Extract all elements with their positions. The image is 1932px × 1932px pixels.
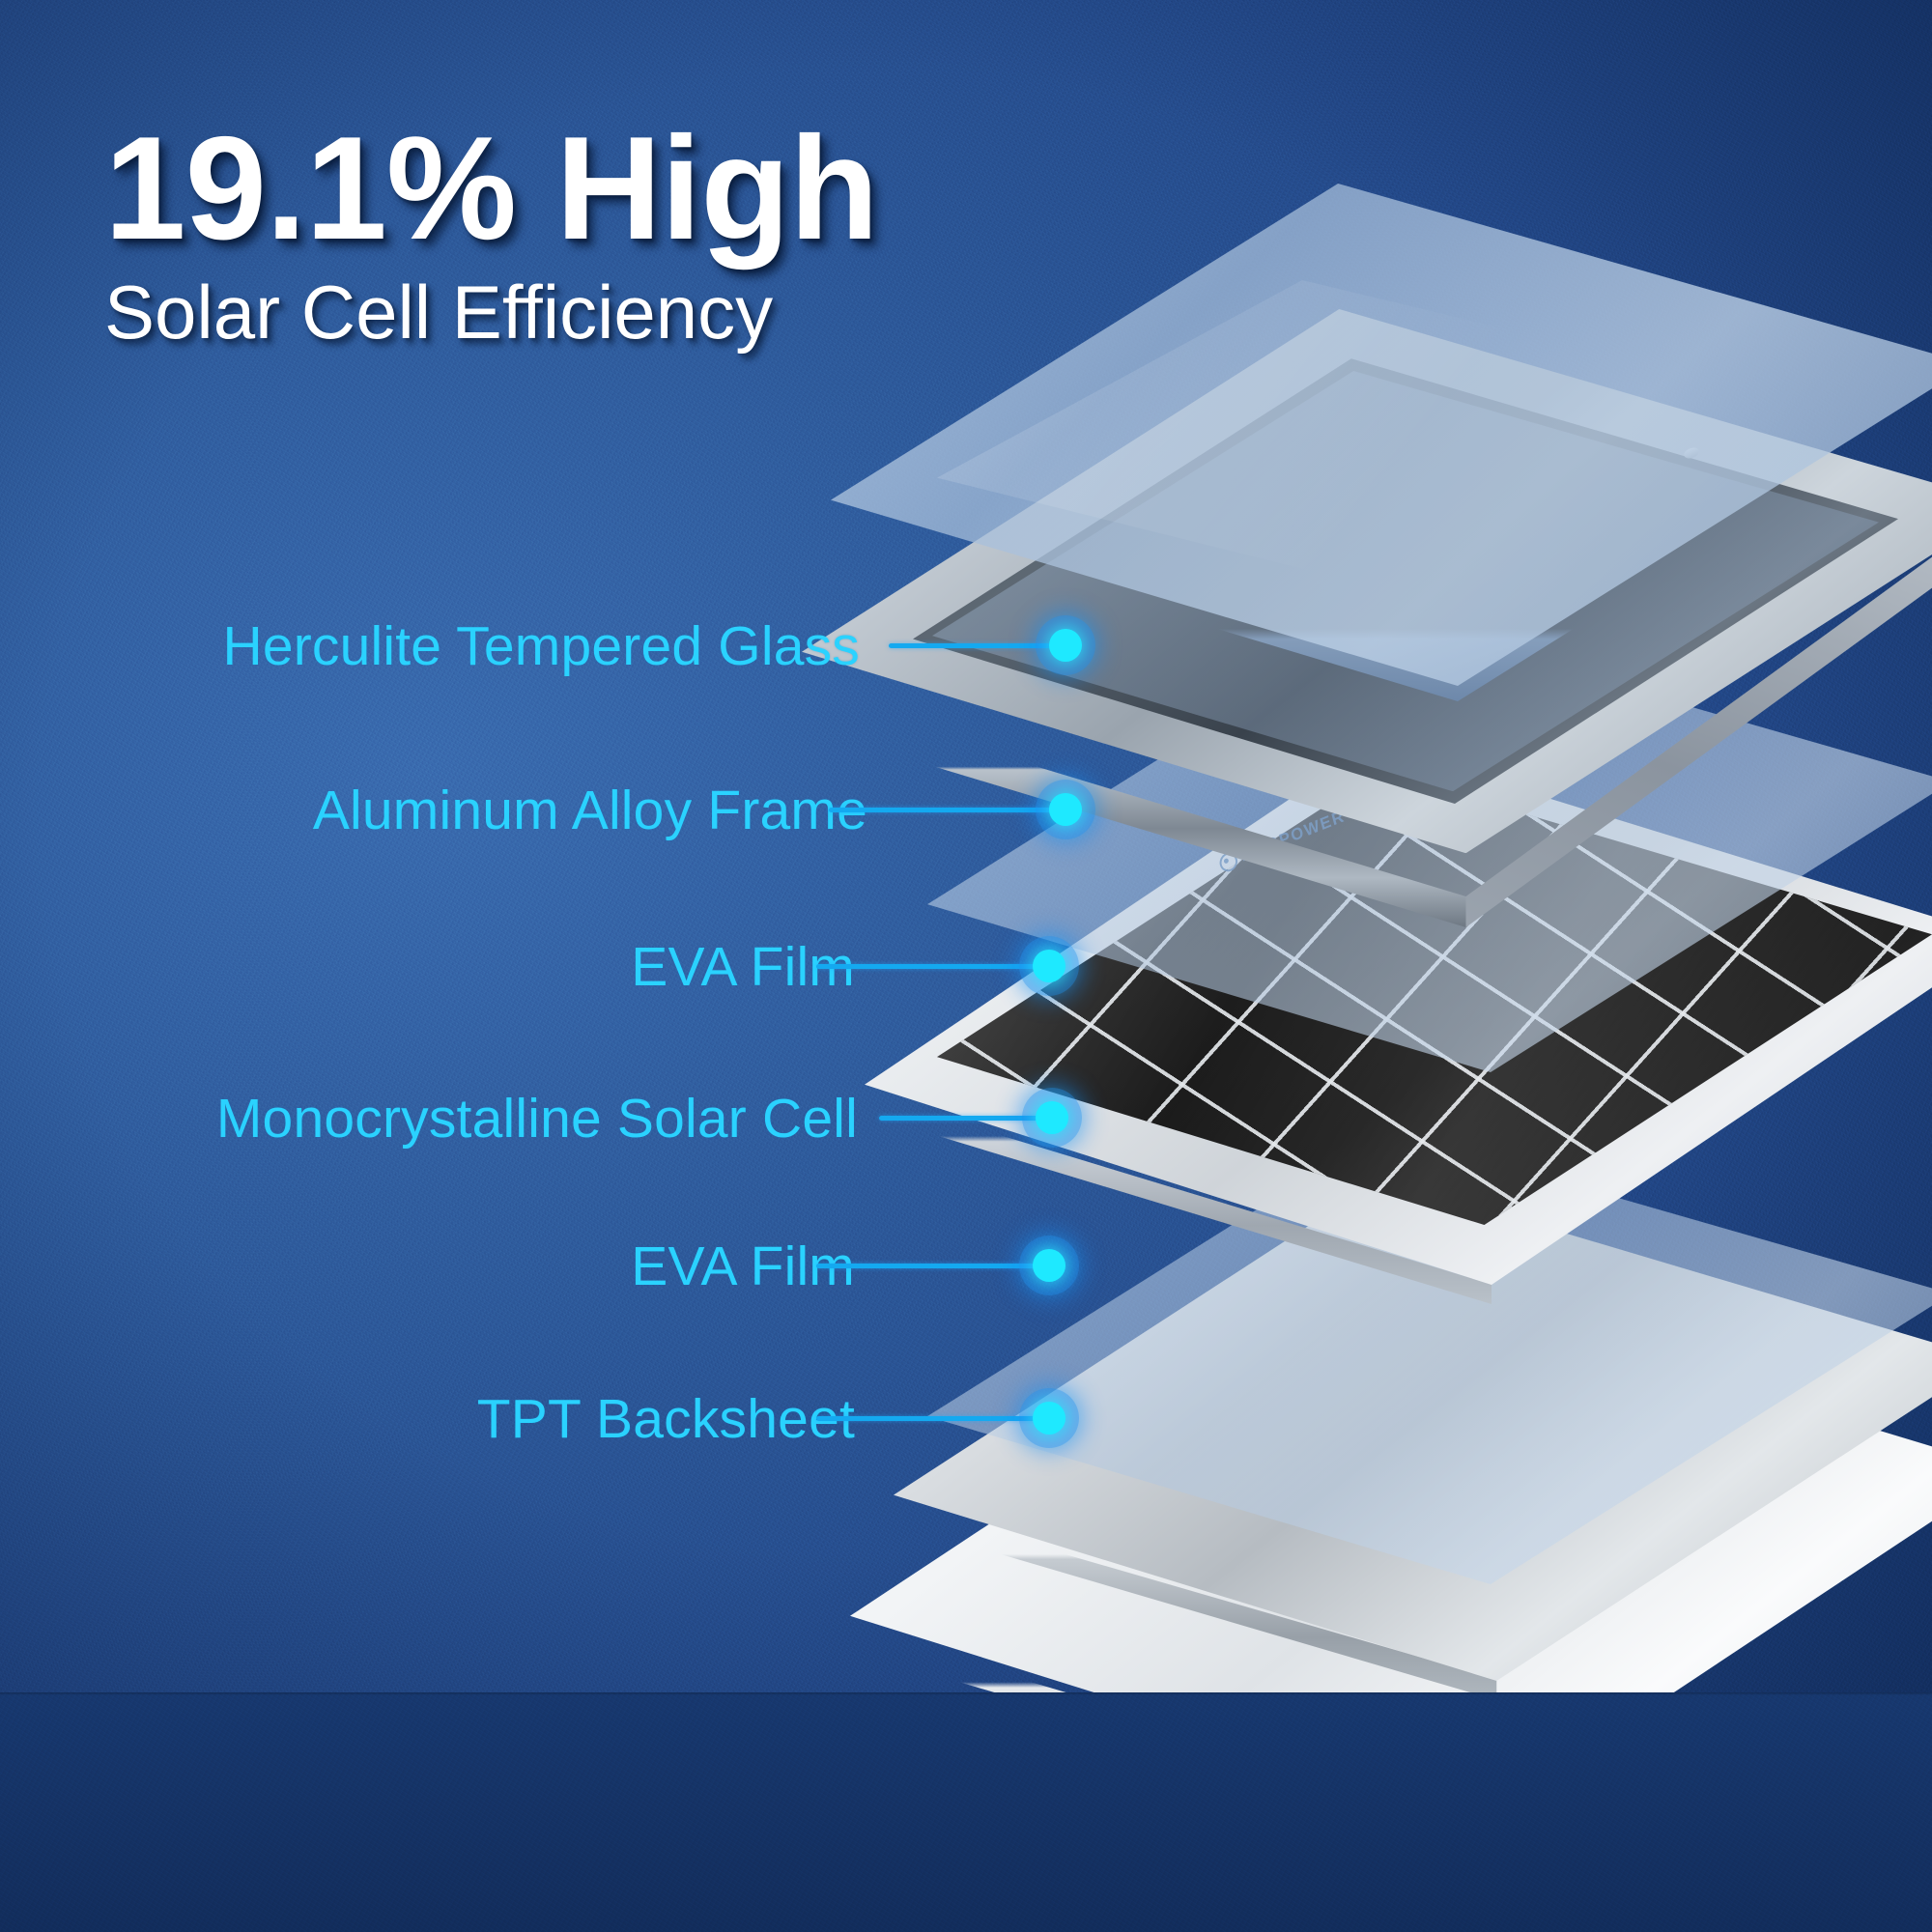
callout-leader-line [879,1116,1039,1121]
bottom-band-texture [0,1692,1932,1932]
bottom-band-divider [0,1692,1932,1695]
callout-label: Herculite Tempered Glass [222,614,860,678]
callout-label: Monocrystalline Solar Cell [216,1087,858,1151]
callout-leader-line [889,643,1053,648]
callout-dot[interactable] [1019,936,1079,996]
callout-leader-line [816,964,1037,969]
callout-leader-line [829,808,1053,812]
exploded-solar-panel-illustration: ACOPOWER [792,164,1932,1671]
callout-leader-line [816,1264,1037,1268]
headline-block: 19.1% High Solar Cell Efficiency [104,114,1119,353]
callout-dot[interactable] [1022,1088,1082,1148]
callout-label: TPT Backsheet [477,1387,855,1451]
headline-primary: 19.1% High [104,114,1119,264]
infographic-canvas: ACOPOWER 19.1% High Solar Cell Efficienc… [0,0,1932,1932]
callout-dot[interactable] [1019,1236,1079,1295]
callout-dot[interactable] [1036,780,1095,839]
callout-leader-line [816,1416,1037,1421]
headline-secondary: Solar Cell Efficiency [104,273,1119,353]
callout-label: Aluminum Alloy Frame [313,779,867,842]
callout-dot[interactable] [1036,615,1095,675]
callout-dot[interactable] [1019,1388,1079,1448]
